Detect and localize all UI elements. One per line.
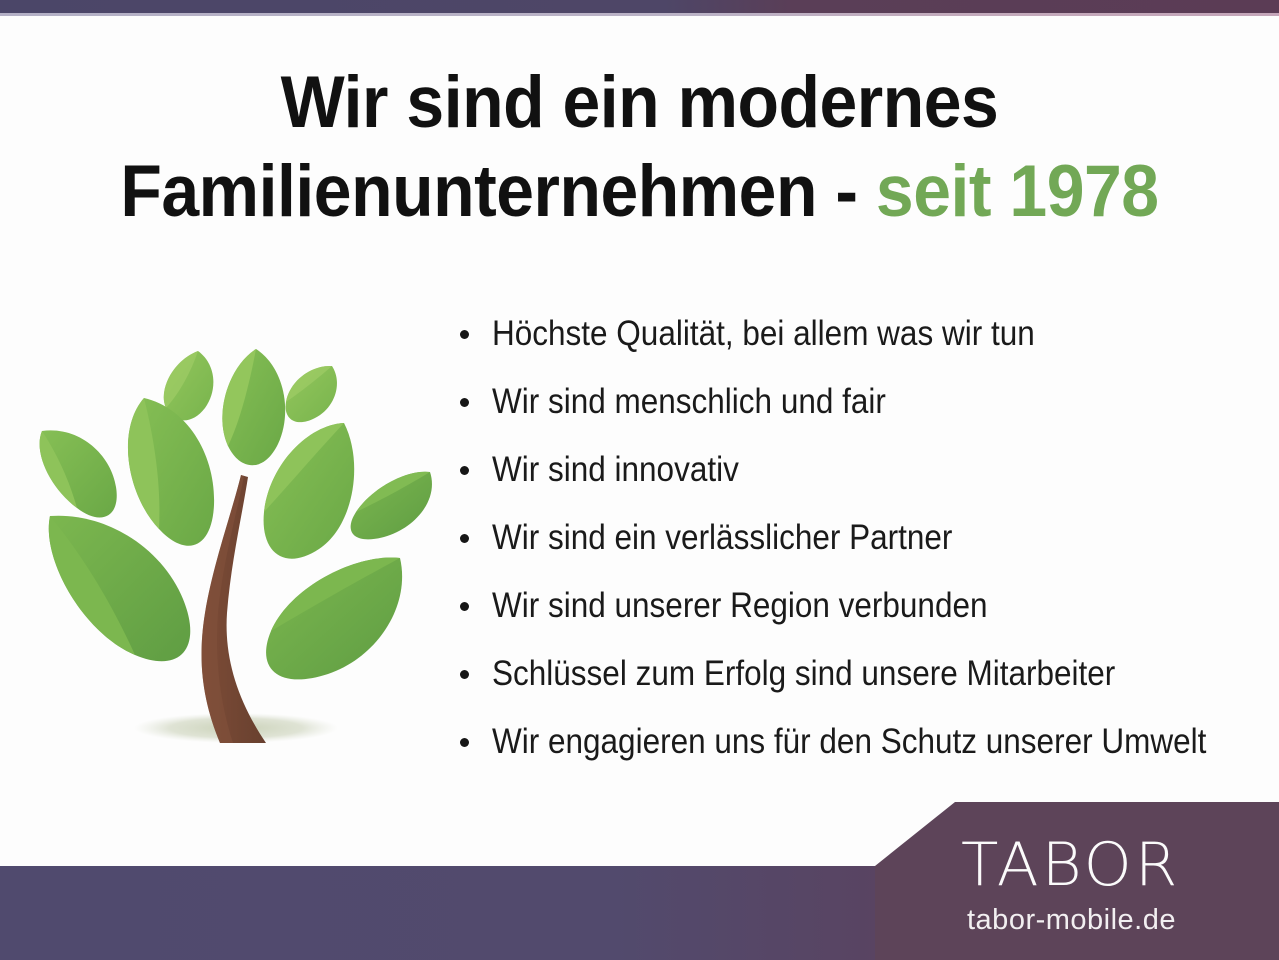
bullet-dot-icon [460, 398, 469, 407]
list-item: Wir sind unserer Region verbunden [458, 572, 1268, 640]
headline-accent-since-1978: seit 1978 [876, 151, 1159, 232]
value-bullet-list: Höchste Qualität, bei allem was wir tun … [458, 300, 1268, 776]
slide-headline: Wir sind ein modernes Familienunternehme… [45, 58, 1234, 236]
bullet-label: Wir engagieren uns für den Schutz unsere… [492, 722, 1206, 762]
bullet-label: Höchste Qualität, bei allem was wir tun [492, 314, 1035, 354]
list-item: Wir sind innovativ [458, 436, 1268, 504]
tree-logo-illustration [28, 330, 453, 762]
bullet-dot-icon [460, 466, 469, 475]
brand-website-url: tabor-mobile.de [967, 905, 1176, 936]
leaf-top-right-small [286, 366, 337, 422]
leaf-left-small [40, 430, 117, 517]
bullet-label: Wir sind ein verlässlicher Partner [492, 518, 952, 558]
leaf-top-center [222, 349, 285, 465]
bullet-label: Schlüssel zum Erfolg sind unsere Mitarbe… [492, 654, 1115, 694]
bullet-dot-icon [460, 738, 469, 747]
leaf-top-left-small [164, 351, 214, 420]
bullet-dot-icon [460, 330, 469, 339]
brand-logo-badge: TABOR tabor-mobile.de [875, 802, 1279, 960]
top-accent-bar-underline [0, 13, 1279, 16]
list-item: Schlüssel zum Erfolg sind unsere Mitarbe… [458, 640, 1268, 708]
top-accent-bar [0, 0, 1279, 13]
headline-line-1: Wir sind ein modernes [45, 58, 1234, 147]
headline-line-2-plain: Familienunternehmen - [120, 151, 876, 232]
bullet-dot-icon [460, 670, 469, 679]
slide-canvas: Wir sind ein modernes Familienunternehme… [0, 0, 1279, 960]
list-item: Wir engagieren uns für den Schutz unsere… [458, 708, 1268, 776]
bullet-label: Wir sind unserer Region verbunden [492, 586, 988, 626]
headline-line-2: Familienunternehmen - seit 1978 [45, 147, 1234, 236]
leaf-right-small [351, 472, 432, 540]
bullet-label: Wir sind innovativ [492, 450, 739, 490]
list-item: Wir sind menschlich und fair [458, 368, 1268, 436]
bullet-dot-icon [460, 602, 469, 611]
leaf-lower-right [266, 558, 402, 680]
bullet-dot-icon [460, 534, 469, 543]
brand-wordmark: TABOR [961, 834, 1180, 896]
list-item: Höchste Qualität, bei allem was wir tun [458, 300, 1268, 368]
bullet-label: Wir sind menschlich und fair [492, 382, 886, 422]
list-item: Wir sind ein verlässlicher Partner [458, 504, 1268, 572]
leaf-upper-left [128, 398, 214, 546]
